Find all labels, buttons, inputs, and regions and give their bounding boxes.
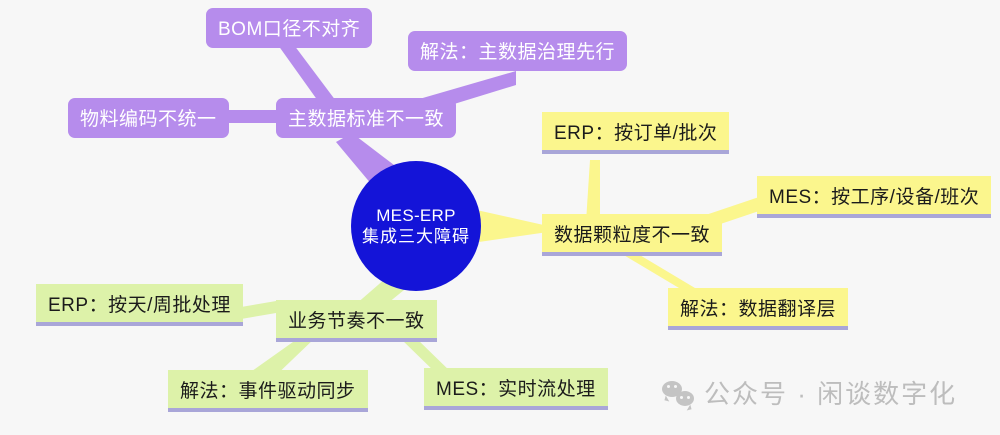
node-label: BOM口径不对齐 bbox=[218, 14, 360, 41]
node-label: ERP：按天/周批处理 bbox=[48, 290, 231, 317]
node-bom-mismatch[interactable]: BOM口径不对齐 bbox=[206, 8, 372, 48]
node-erp-daily-weekly-batch[interactable]: ERP：按天/周批处理 bbox=[36, 284, 243, 326]
node-label: 解法：数据翻译层 bbox=[680, 294, 836, 321]
mindmap-canvas: MES-ERP 集成三大障碍 BOM口径不对齐 物料编码不统一 主数据标准不一致… bbox=[0, 0, 1000, 435]
node-solution-master-data-governance[interactable]: 解法：主数据治理先行 bbox=[408, 31, 627, 71]
connector-center-to-granularity bbox=[472, 209, 548, 243]
node-solution-event-driven-sync[interactable]: 解法：事件驱动同步 bbox=[168, 370, 368, 412]
node-solution-data-translation-layer[interactable]: 解法：数据翻译层 bbox=[668, 288, 848, 330]
node-label: 解法：事件驱动同步 bbox=[180, 376, 356, 403]
connector-masterdata-to-bom bbox=[278, 45, 336, 101]
center-node-line1: MES-ERP bbox=[376, 205, 456, 226]
wechat-icon bbox=[662, 380, 694, 406]
center-node[interactable]: MES-ERP 集成三大障碍 bbox=[351, 161, 481, 291]
node-erp-order-batch[interactable]: ERP：按订单/批次 bbox=[542, 112, 729, 154]
node-label: MES：实时流处理 bbox=[436, 374, 596, 401]
watermark-text: 公众号 · 闲谈数字化 bbox=[704, 374, 957, 411]
node-label: ERP：按订单/批次 bbox=[554, 118, 717, 145]
node-data-granularity[interactable]: 数据颗粒度不一致 bbox=[542, 214, 722, 256]
watermark: 公众号 · 闲谈数字化 bbox=[662, 374, 957, 411]
node-label: 业务节奏不一致 bbox=[288, 306, 425, 333]
node-label: 数据颗粒度不一致 bbox=[554, 220, 710, 247]
node-mes-process-equipment-shift[interactable]: MES：按工序/设备/班次 bbox=[757, 176, 991, 218]
node-label: 物料编码不统一 bbox=[80, 104, 217, 131]
node-label: 解法：主数据治理先行 bbox=[420, 37, 615, 64]
node-master-data-standard[interactable]: 主数据标准不一致 bbox=[276, 98, 456, 138]
node-business-cadence[interactable]: 业务节奏不一致 bbox=[276, 300, 437, 342]
center-node-line2: 集成三大障碍 bbox=[362, 226, 470, 247]
node-label: 主数据标准不一致 bbox=[288, 104, 444, 131]
connector-granularity-to-erp bbox=[586, 160, 600, 222]
node-material-code[interactable]: 物料编码不统一 bbox=[68, 98, 229, 138]
node-mes-realtime-stream[interactable]: MES：实时流处理 bbox=[424, 368, 608, 410]
node-label: MES：按工序/设备/班次 bbox=[769, 182, 979, 209]
